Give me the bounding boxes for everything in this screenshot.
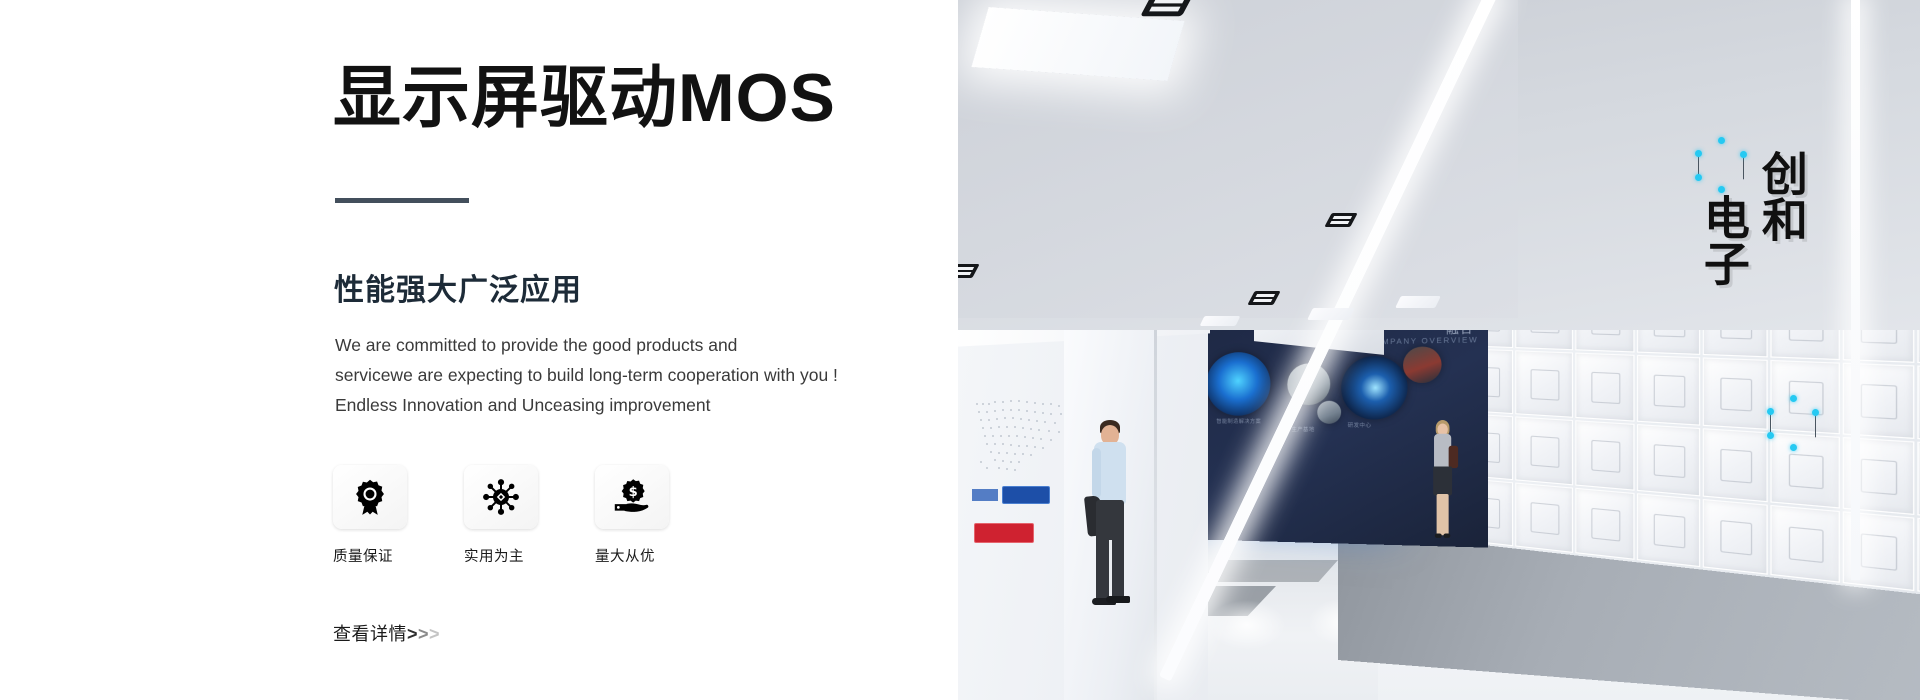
chevron-right-icon-3: > xyxy=(429,624,440,644)
wall-sign-small xyxy=(972,489,998,501)
relief-tile xyxy=(1516,416,1573,485)
hero-banner: 显示屏驱动MOS 性能强大广泛应用 We are committed to pr… xyxy=(0,0,1920,700)
feature-card[interactable]: $ xyxy=(595,465,669,529)
relief-tile xyxy=(1637,493,1700,567)
column-edge xyxy=(1154,300,1157,700)
relief-tile xyxy=(1516,483,1573,553)
figure-shoe xyxy=(1435,534,1442,538)
chevron-right-icon-2: > xyxy=(418,624,429,644)
feature-list: 质量保证 xyxy=(333,465,669,566)
businesswoman-figure xyxy=(1428,420,1457,549)
page-title: 显示屏驱动MOS xyxy=(333,60,836,136)
award-medal-icon xyxy=(351,478,389,516)
feature-label: 量大从优 xyxy=(595,545,669,566)
feature-card[interactable] xyxy=(464,465,538,529)
ceiling-light-panel xyxy=(1200,316,1241,326)
hand-money-icon: $ xyxy=(613,478,651,516)
feature-item-quality[interactable]: 质量保证 xyxy=(333,465,407,566)
relief-tile xyxy=(1637,424,1700,496)
feature-item-bulk-discount[interactable]: $ 量大从优 xyxy=(595,465,669,566)
description-line-1: We are committed to provide the good pro… xyxy=(335,330,895,360)
feature-item-practical[interactable]: 实用为主 xyxy=(464,465,538,566)
relief-tile xyxy=(1702,499,1768,575)
company-logo-wall: 电子 创和 xyxy=(1692,140,1882,470)
description-paragraph: We are committed to provide the good pro… xyxy=(335,330,895,420)
title-divider xyxy=(335,198,469,203)
relief-tile xyxy=(1575,353,1635,422)
left-text-panel: 显示屏驱动MOS 性能强大广泛应用 We are committed to pr… xyxy=(0,0,958,700)
showroom-interior-photo: 5947 C18A 融合 COMPANY OVERVIEW 智能制造解决方案 研… xyxy=(958,0,1920,700)
figure-leg-gap xyxy=(1109,540,1112,600)
relief-tile xyxy=(1771,505,1840,583)
figure-shoe xyxy=(1443,534,1450,538)
relief-tile xyxy=(1637,355,1700,426)
hexagon-molecule-icon xyxy=(1698,140,1744,192)
wall-sign-red xyxy=(974,523,1034,543)
view-details-link[interactable]: 查看详情>>> xyxy=(333,620,440,646)
hexagon-molecule-icon xyxy=(1770,398,1816,450)
view-details-label: 查看详情 xyxy=(333,624,407,644)
wall-caption-text: 生产基地 xyxy=(1292,426,1315,433)
arrow-icons: >>> xyxy=(407,624,440,644)
figure-shoe xyxy=(1106,596,1130,603)
figure-legs xyxy=(1437,494,1449,535)
wall-caption-text: 智能制造解决方案 xyxy=(1216,418,1261,425)
businessman-figure xyxy=(1086,420,1134,620)
wall-sign-blue xyxy=(1002,486,1050,504)
wall-photo-circle xyxy=(1341,355,1407,419)
logo-text-right: 创和 xyxy=(1758,150,1805,242)
description-line-3: Endless Innovation and Unceasing improve… xyxy=(335,390,895,420)
subtitle: 性能强大广泛应用 xyxy=(334,265,582,309)
svg-text:$: $ xyxy=(629,485,638,500)
chevron-right-icon-1: > xyxy=(407,624,418,644)
feature-label: 实用为主 xyxy=(464,545,538,566)
feature-card[interactable] xyxy=(333,465,407,529)
wall-caption-text: 研发中心 xyxy=(1348,422,1372,429)
feature-label: 质量保证 xyxy=(333,545,407,566)
figure-arm xyxy=(1092,448,1101,498)
relief-tile xyxy=(1575,420,1635,491)
wall-chip-circle xyxy=(1206,352,1270,416)
network-hub-icon xyxy=(482,478,520,516)
wall-photo-circle xyxy=(1317,401,1341,424)
relief-tile xyxy=(1575,488,1635,560)
floor-light-reflection-2 xyxy=(1208,600,1286,650)
figure-skirt xyxy=(1433,466,1452,495)
relief-tile xyxy=(1516,350,1573,418)
wall-photo-circle xyxy=(1403,346,1442,383)
logo-text-left: 电子 xyxy=(1700,194,1747,286)
figure-handbag xyxy=(1449,446,1458,468)
description-line-2: servicewe are expecting to build long-te… xyxy=(335,360,895,390)
ceiling-light-panel xyxy=(1395,296,1441,308)
ceiling-light-panel xyxy=(1307,308,1355,320)
